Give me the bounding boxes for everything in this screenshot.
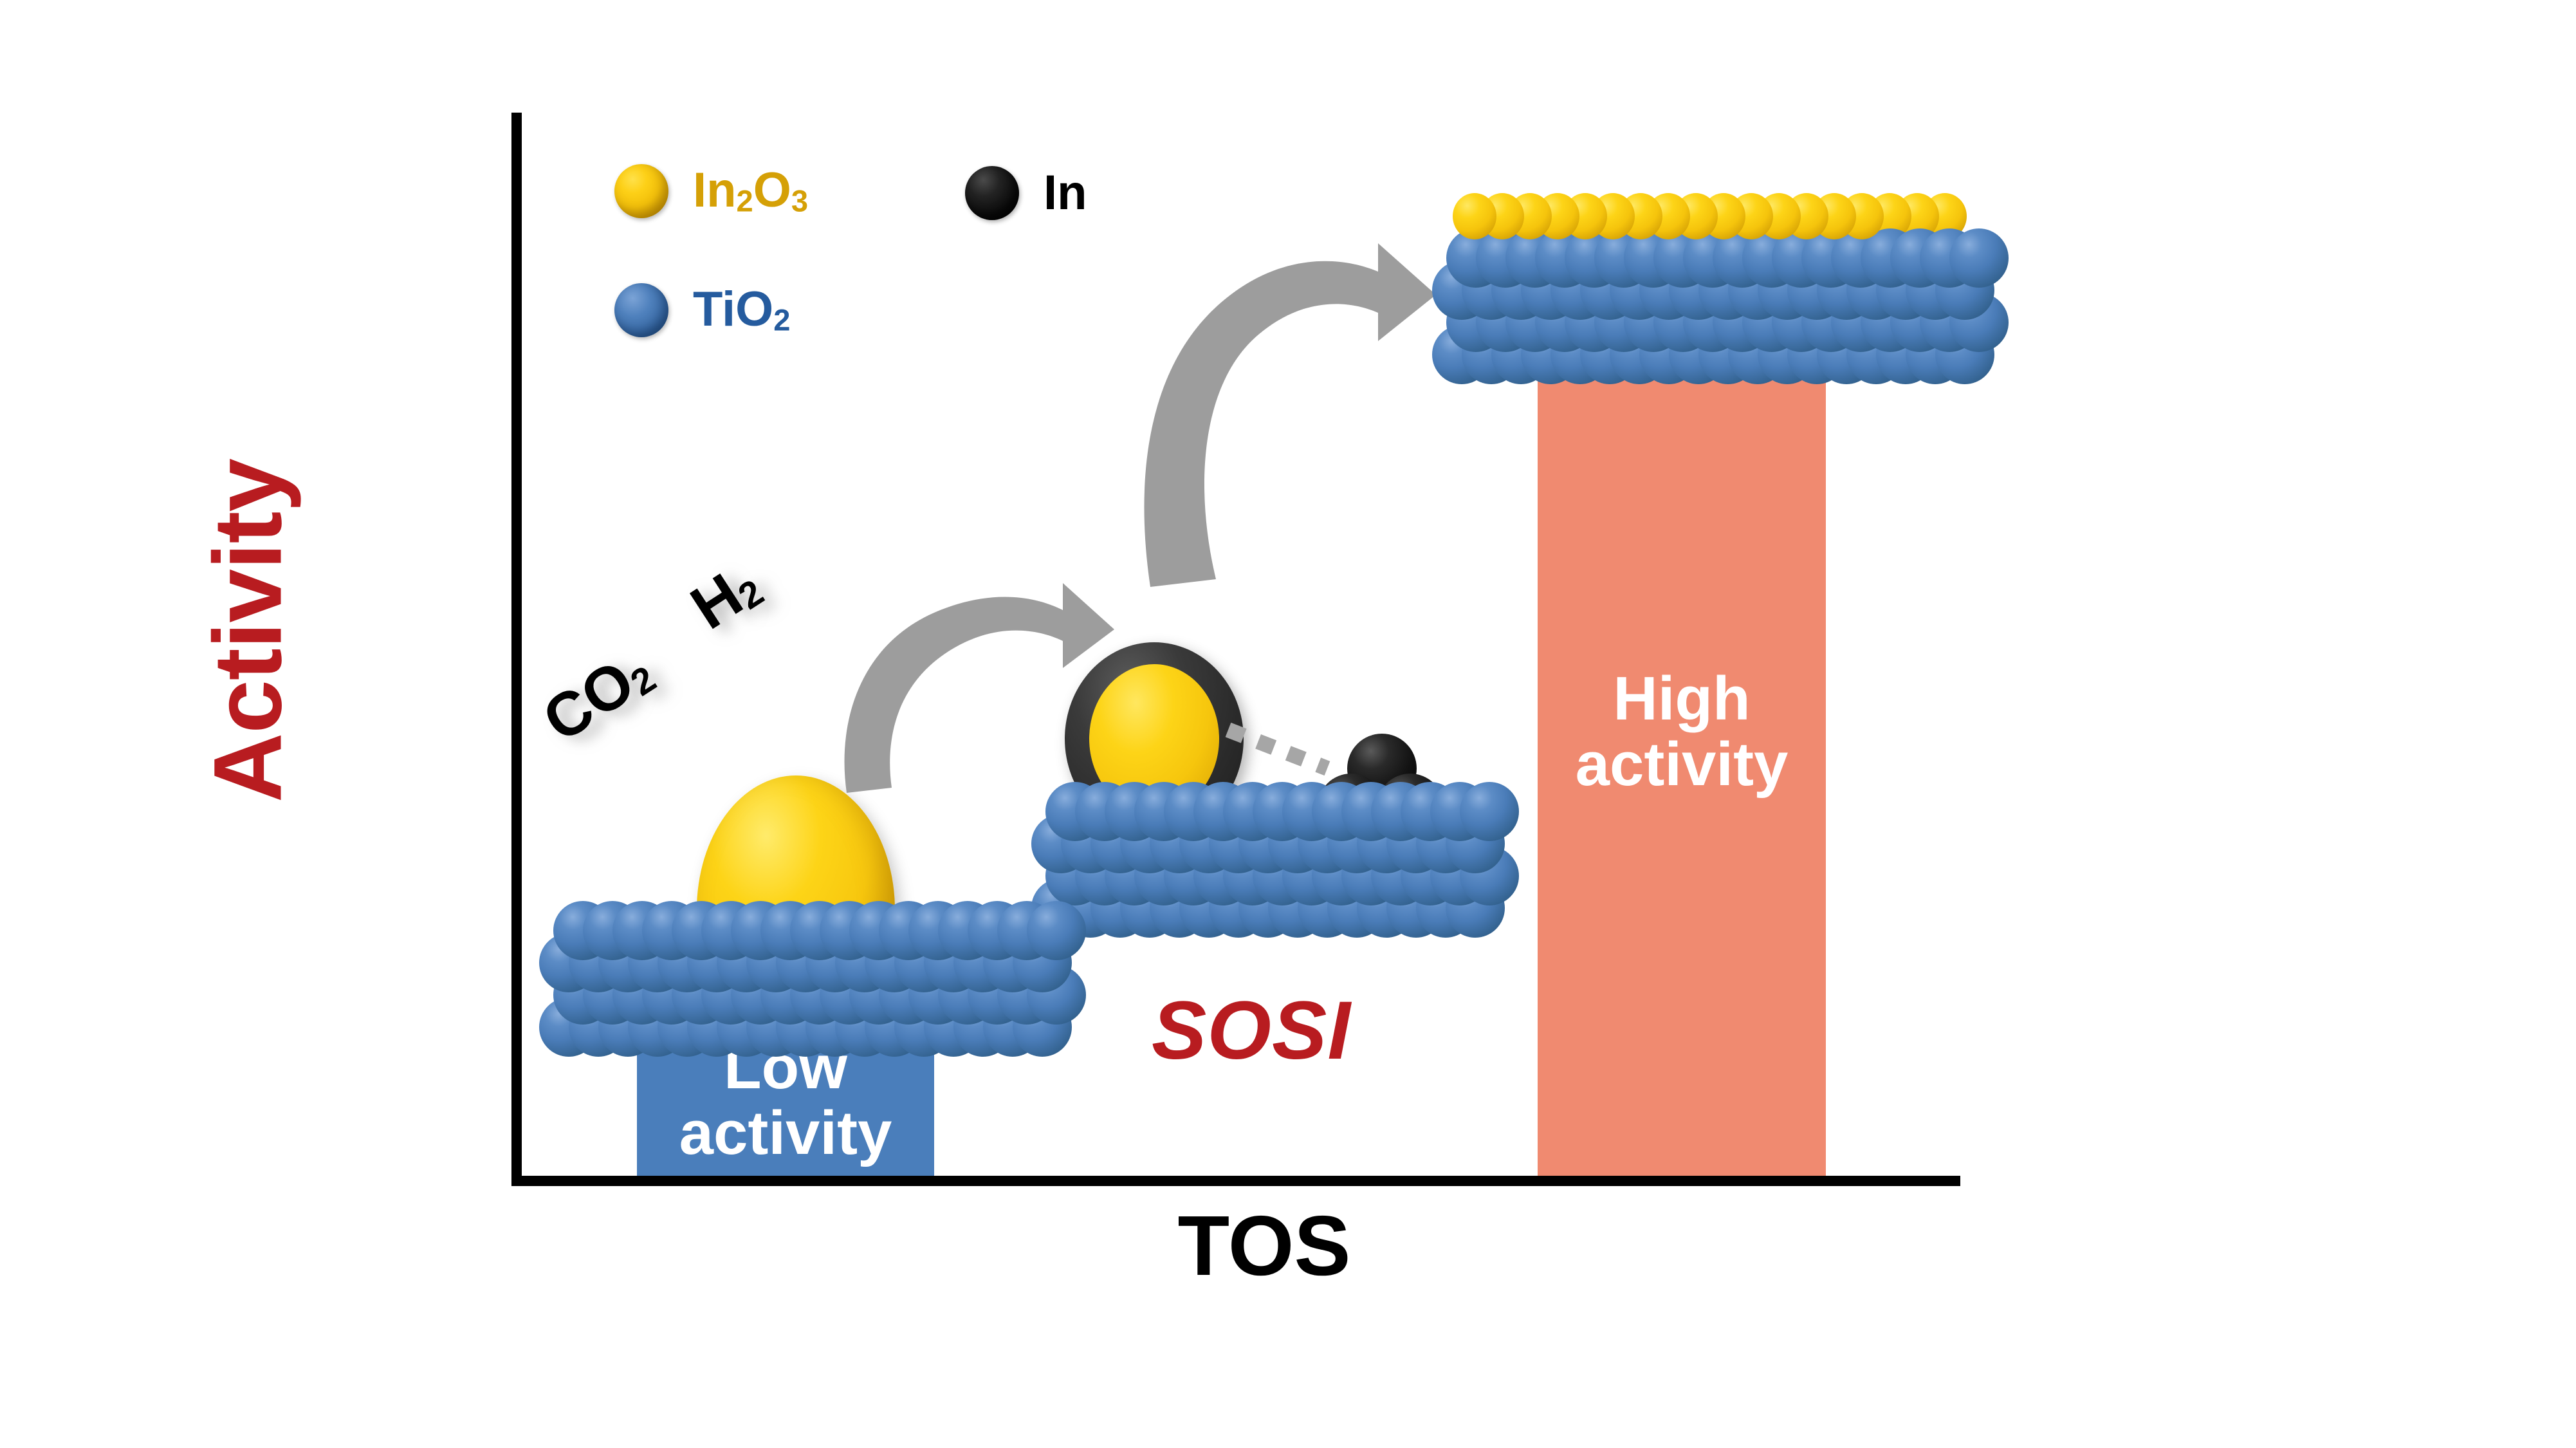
in2o3-sphere xyxy=(1453,193,1496,239)
legend-item-tio2: TiO2 xyxy=(614,283,790,337)
tio2-slab-left xyxy=(553,901,1081,1055)
high-activity-bar: High activity xyxy=(1538,351,1826,1176)
legend-label-in2o3: In2O3 xyxy=(693,166,808,216)
y-axis-line xyxy=(511,113,522,1186)
tio2-sphere xyxy=(1460,782,1519,841)
reactant-label-h2: H2 xyxy=(679,549,772,644)
tio2-sphere xyxy=(1027,901,1086,960)
sosi-annotation: SOSI xyxy=(1152,983,1351,1078)
tio2-sphere xyxy=(1949,228,2009,288)
legend-label-in: In xyxy=(1044,169,1087,218)
in2o3-monolayer-overlayer xyxy=(1453,193,1942,239)
x-axis-title: TOS xyxy=(1071,1197,1457,1294)
high-activity-bar-label: High activity xyxy=(1538,666,1826,797)
legend-item-in: In xyxy=(965,166,1087,220)
scheme-figure: Activity TOS Low activity High activity … xyxy=(0,0,2576,1448)
arrow-reduction-step xyxy=(823,560,1119,798)
legend-item-in2o3: In2O3 xyxy=(614,164,808,218)
in-sphere-icon xyxy=(965,166,1019,220)
arrow-restructuring-step xyxy=(1139,219,1441,592)
x-axis-line xyxy=(511,1176,1960,1186)
legend-label-tio2: TiO2 xyxy=(693,285,790,335)
reactant-label-co2: CO2 xyxy=(531,635,665,756)
tio2-slab-right xyxy=(1446,228,1955,383)
in2o3-sphere-icon xyxy=(614,164,668,218)
tio2-sphere-icon xyxy=(614,283,668,337)
tio2-slab-middle xyxy=(1045,782,1518,936)
y-axis-title: Activity xyxy=(192,393,304,869)
